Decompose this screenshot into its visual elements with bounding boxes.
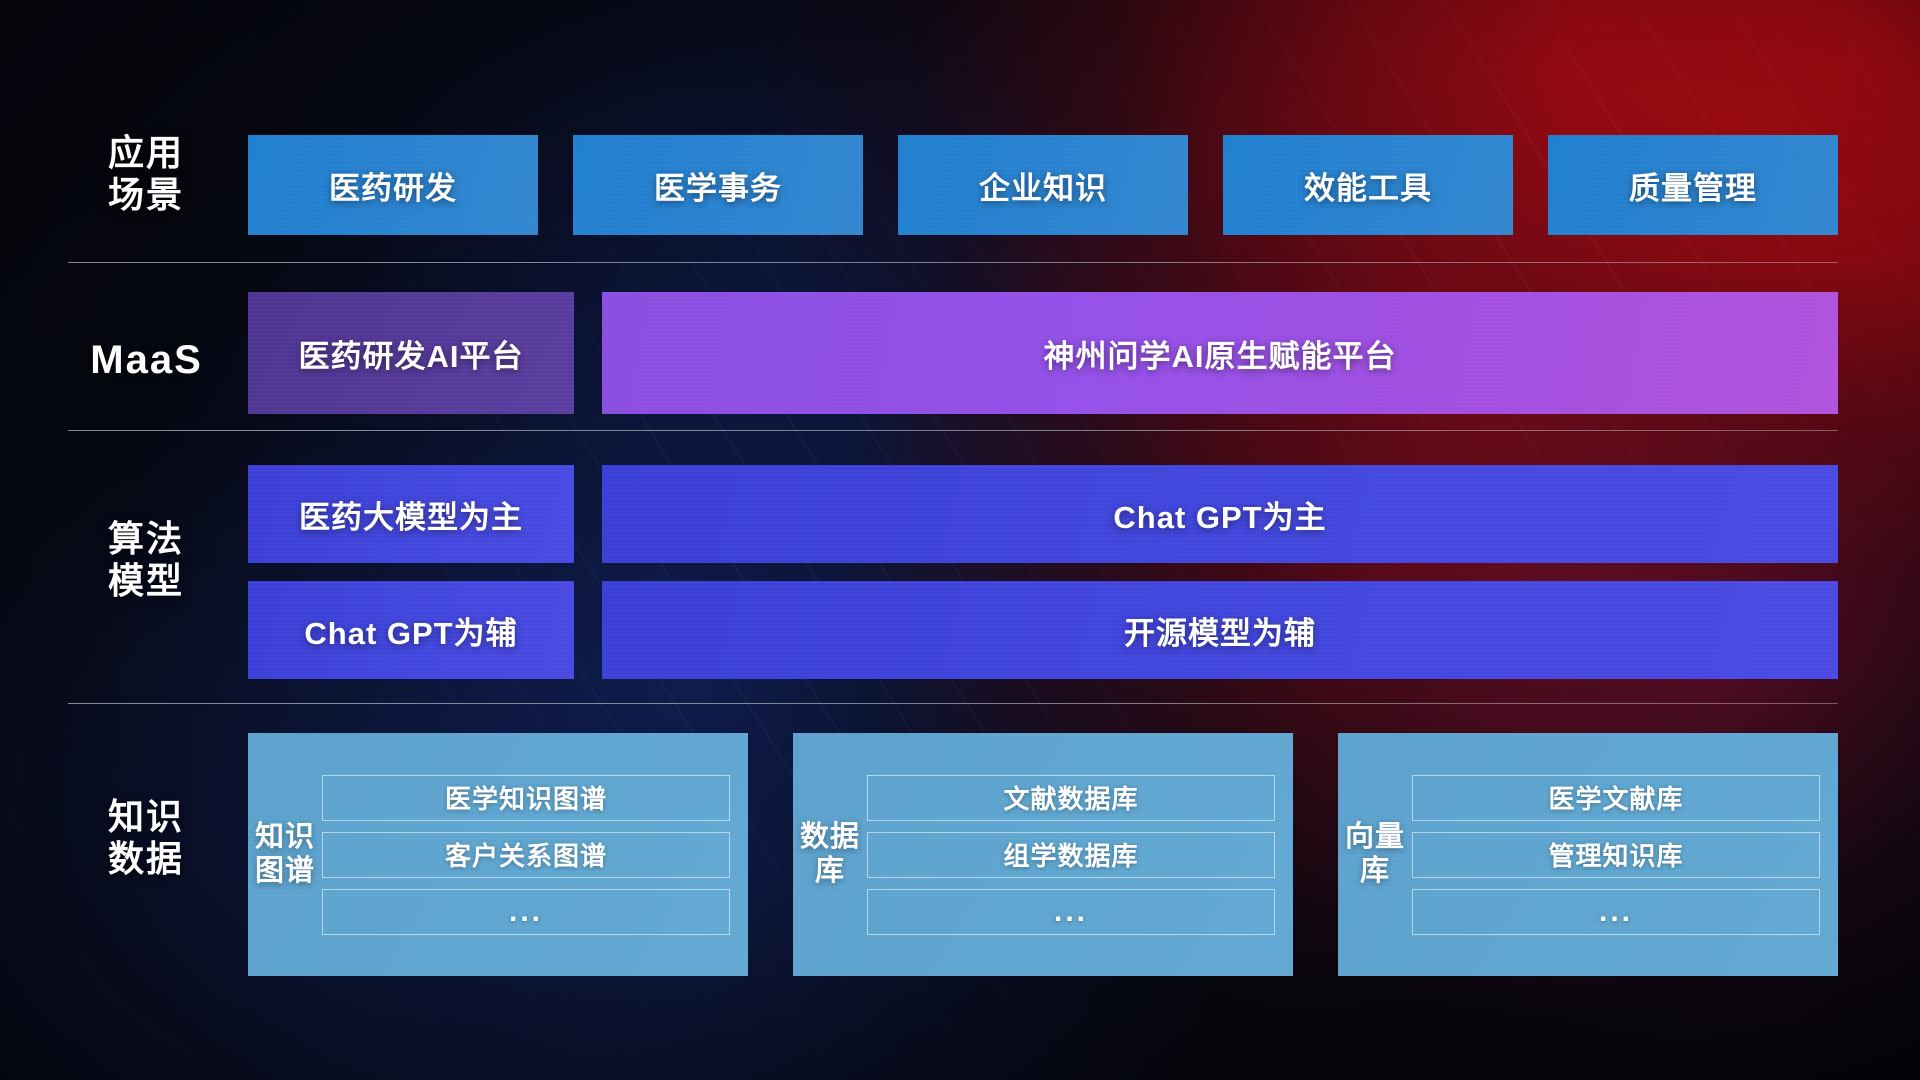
maas-cell-shenzhou-wenxue-platform[interactable]: 神州问学AI原生赋能平台 (602, 292, 1838, 414)
divider-application-maas (68, 262, 1838, 263)
algorithm-cell-chatgpt-primary[interactable]: Chat GPT为主 (602, 465, 1838, 563)
algorithm-cell-label: Chat GPT为辅 (304, 608, 517, 653)
knowledge-panel-item[interactable]: 管理知识库 (1412, 832, 1820, 878)
application-cell-medical-affairs[interactable]: 医学事务 (573, 135, 863, 235)
row-label-knowledge-data: 知识 数据 (86, 796, 206, 880)
architecture-diagram: 应用 场景 医药研发 医学事务 企业知识 效能工具 质量管理 MaaS 医药研发… (0, 0, 1920, 1080)
knowledge-panel-item[interactable]: 文献数据库 (867, 775, 1275, 821)
application-cell-quality-management[interactable]: 质量管理 (1548, 135, 1838, 235)
maas-cell-label: 医药研发AI平台 (299, 331, 524, 376)
divider-maas-algorithm (68, 430, 1838, 431)
knowledge-panel-title: 数据库 (793, 821, 867, 887)
knowledge-panel-knowledge-graph[interactable]: 知识图谱 医学知识图谱 客户关系图谱 ... (248, 733, 748, 976)
knowledge-panel-item[interactable]: 组学数据库 (867, 832, 1275, 878)
application-cell-efficiency-tools[interactable]: 效能工具 (1223, 135, 1513, 235)
knowledge-panel-item[interactable]: 医学文献库 (1412, 775, 1820, 821)
algorithm-cell-label: 开源模型为辅 (1124, 608, 1316, 653)
knowledge-panel-title: 知识图谱 (248, 821, 322, 887)
maas-cell-medicine-ai-platform[interactable]: 医药研发AI平台 (248, 292, 574, 414)
knowledge-panel-item-more[interactable]: ... (322, 889, 730, 935)
knowledge-panel-item[interactable]: 医学知识图谱 (322, 775, 730, 821)
application-cell-enterprise-knowledge[interactable]: 企业知识 (898, 135, 1188, 235)
knowledge-panel-item-more[interactable]: ... (867, 889, 1275, 935)
algorithm-cell-opensource-secondary[interactable]: 开源模型为辅 (602, 581, 1838, 679)
slide-canvas: 应用 场景 医药研发 医学事务 企业知识 效能工具 质量管理 MaaS 医药研发… (0, 0, 1920, 1080)
knowledge-panel-item[interactable]: 客户关系图谱 (322, 832, 730, 878)
knowledge-panel-item-more[interactable]: ... (1412, 889, 1820, 935)
application-cell-label: 企业知识 (979, 163, 1107, 208)
application-cell-medicine-rnd[interactable]: 医药研发 (248, 135, 538, 235)
maas-cell-label: 神州问学AI原生赋能平台 (1044, 331, 1397, 376)
knowledge-panel-item-list: 医学知识图谱 客户关系图谱 ... (322, 775, 748, 935)
row-label-algorithm-model: 算法 模型 (86, 518, 206, 602)
row-label-maas: MaaS (74, 337, 219, 383)
knowledge-panel-vector-store[interactable]: 向量库 医学文献库 管理知识库 ... (1338, 733, 1838, 976)
application-cell-label: 医学事务 (654, 163, 782, 208)
knowledge-panel-title: 向量库 (1338, 821, 1412, 887)
application-cell-label: 效能工具 (1304, 163, 1432, 208)
knowledge-panel-database[interactable]: 数据库 文献数据库 组学数据库 ... (793, 733, 1293, 976)
application-cell-label: 医药研发 (329, 163, 457, 208)
algorithm-cell-label: Chat GPT为主 (1113, 492, 1326, 537)
algorithm-cell-chatgpt-secondary[interactable]: Chat GPT为辅 (248, 581, 574, 679)
knowledge-panel-item-list: 医学文献库 管理知识库 ... (1412, 775, 1838, 935)
divider-algorithm-knowledge (68, 703, 1838, 704)
knowledge-panel-item-list: 文献数据库 组学数据库 ... (867, 775, 1293, 935)
algorithm-cell-label: 医药大模型为主 (299, 492, 523, 537)
row-label-application-scenarios: 应用 场景 (86, 132, 206, 216)
algorithm-cell-medicine-llm-primary[interactable]: 医药大模型为主 (248, 465, 574, 563)
application-cell-label: 质量管理 (1629, 163, 1757, 208)
